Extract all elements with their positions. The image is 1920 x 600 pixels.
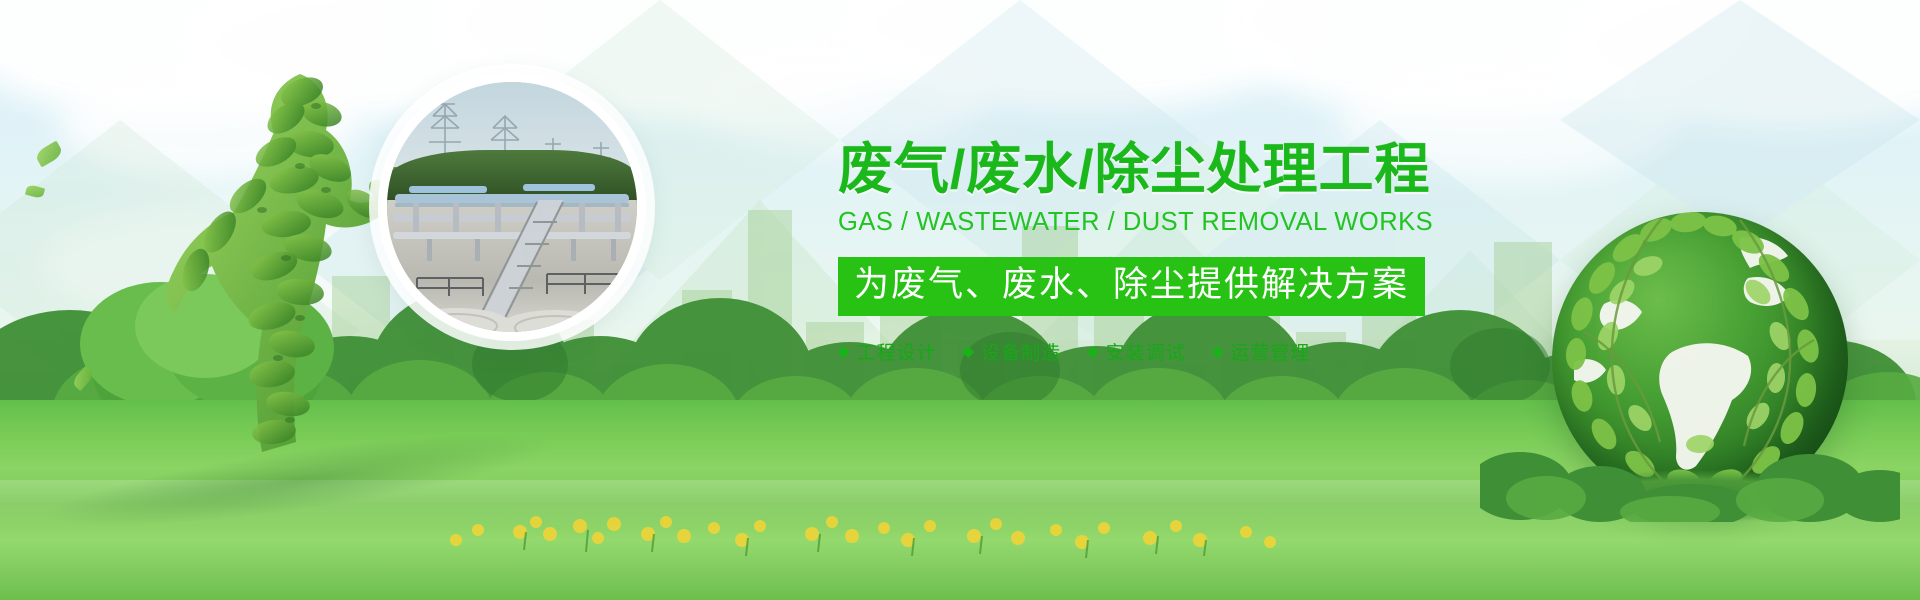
wastewater-plant-photo-inset — [378, 73, 646, 341]
list-item: ◆ 运营管理 — [1212, 338, 1311, 365]
list-item: ◆ 设备制造 — [963, 338, 1062, 365]
list-item-label: 设备制造 — [981, 338, 1061, 365]
page-subtitle: GAS / WASTEWATER / DUST REMOVAL WORKS — [838, 208, 1478, 237]
eco-engineering-banner: 废气/废水/除尘处理工程 GAS / WASTEWATER / DUST REM… — [0, 0, 1920, 600]
list-item-label: 运营管理 — [1230, 338, 1310, 365]
service-bullet-list: ◆ 工程设计 ◆ 设备制造 ◆ 安装调试 ◆ 运营管理 — [838, 338, 1478, 365]
slogan-bar: 为废气、废水、除尘提供解决方案 — [838, 257, 1425, 316]
banner-text-block: 废气/废水/除尘处理工程 GAS / WASTEWATER / DUST REM… — [838, 140, 1478, 365]
page-title: 废气/废水/除尘处理工程 — [838, 140, 1478, 198]
diamond-icon: ◆ — [1087, 344, 1099, 359]
globe-base-shrubs — [1480, 412, 1900, 522]
list-item: ◆ 安装调试 — [1087, 338, 1186, 365]
leaf-running-man-figure — [150, 48, 420, 468]
diamond-icon: ◆ — [963, 344, 975, 359]
diamond-icon: ◆ — [1212, 344, 1224, 359]
list-item: ◆ 工程设计 — [838, 338, 937, 365]
list-item-label: 工程设计 — [857, 338, 937, 365]
list-item-label: 安装调试 — [1106, 338, 1186, 365]
diamond-icon: ◆ — [838, 344, 850, 359]
slogan-text: 为废气、废水、除尘提供解决方案 — [854, 265, 1409, 304]
